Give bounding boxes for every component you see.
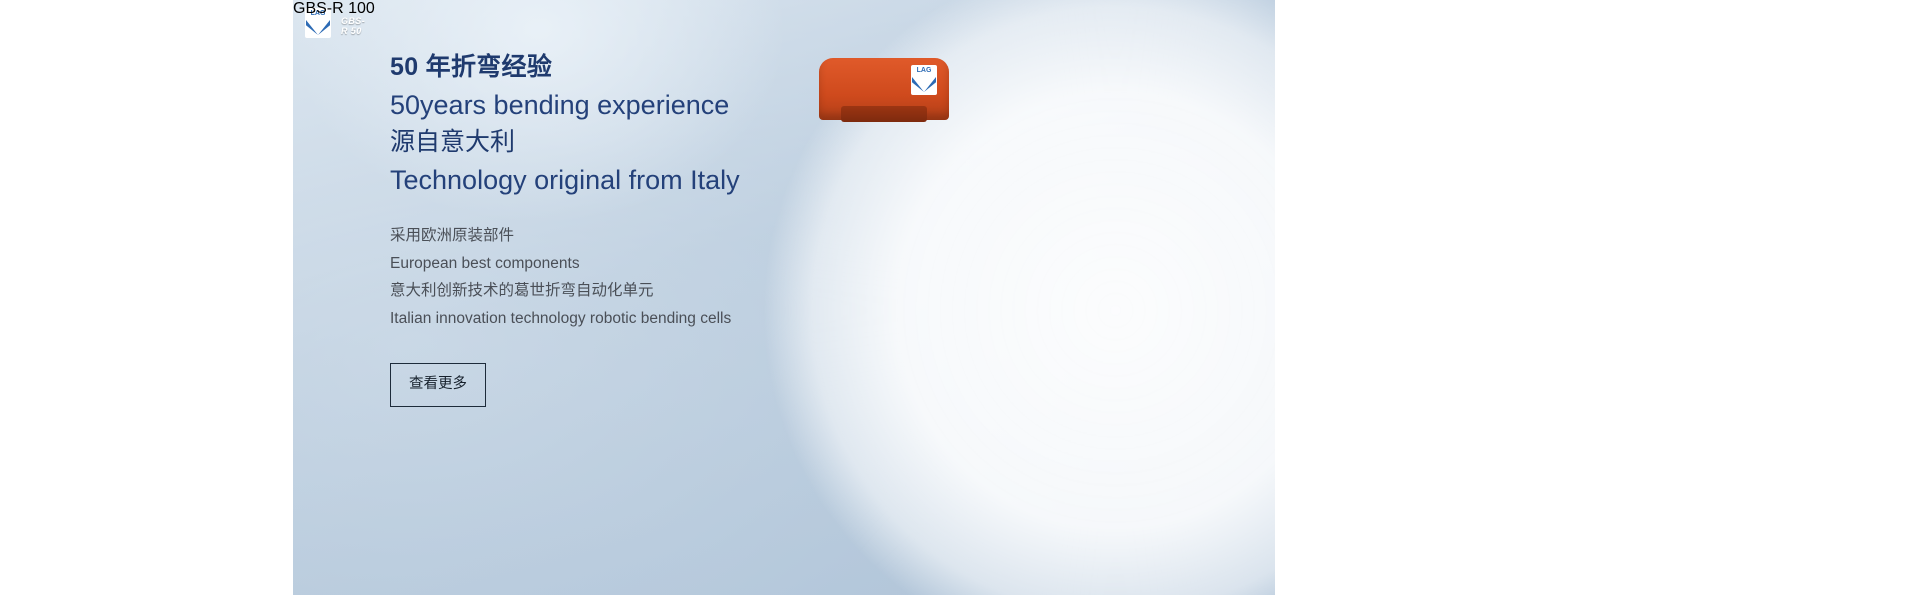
gbs100-crown-grey: GBS-R 100: [293, 0, 375, 18]
view-more-button[interactable]: 查看更多: [390, 363, 486, 407]
machine-gbs-r-100-cell: GBS-R 100: [293, 0, 375, 18]
subtext-line-1: 采用欧洲原装部件: [390, 222, 1010, 250]
subtext-line-3: 意大利创新技术的葛世折弯自动化单元: [390, 277, 1010, 305]
lag-logo-chevron-icon-2: [306, 20, 330, 35]
subtext-line-4: Italian innovation technology robotic be…: [390, 305, 1010, 333]
banner-stage: LAG: [0, 0, 1920, 595]
subtext-line-2: European best components: [390, 250, 1010, 278]
banner-text-block: 50 年折弯经验 50years bending experience 源自意大…: [390, 55, 1010, 407]
banner-subtext: 采用欧洲原装部件 European best components 意大利创新技…: [390, 222, 1010, 332]
headline-line-4: Technology original from Italy: [390, 167, 1010, 194]
hero-banner: LAG: [293, 0, 1275, 595]
banner-headline: 50 年折弯经验 50years bending experience 源自意大…: [390, 55, 1010, 194]
headline-line-1: 50 年折弯经验: [390, 55, 1010, 80]
gbs50-model-label: GBS-R 50: [341, 16, 365, 36]
gbs100-model-label: GBS-R 100: [293, 0, 375, 18]
headline-line-2: 50years bending experience: [390, 92, 1010, 119]
headline-line-3: 源自意大利: [390, 130, 1010, 155]
